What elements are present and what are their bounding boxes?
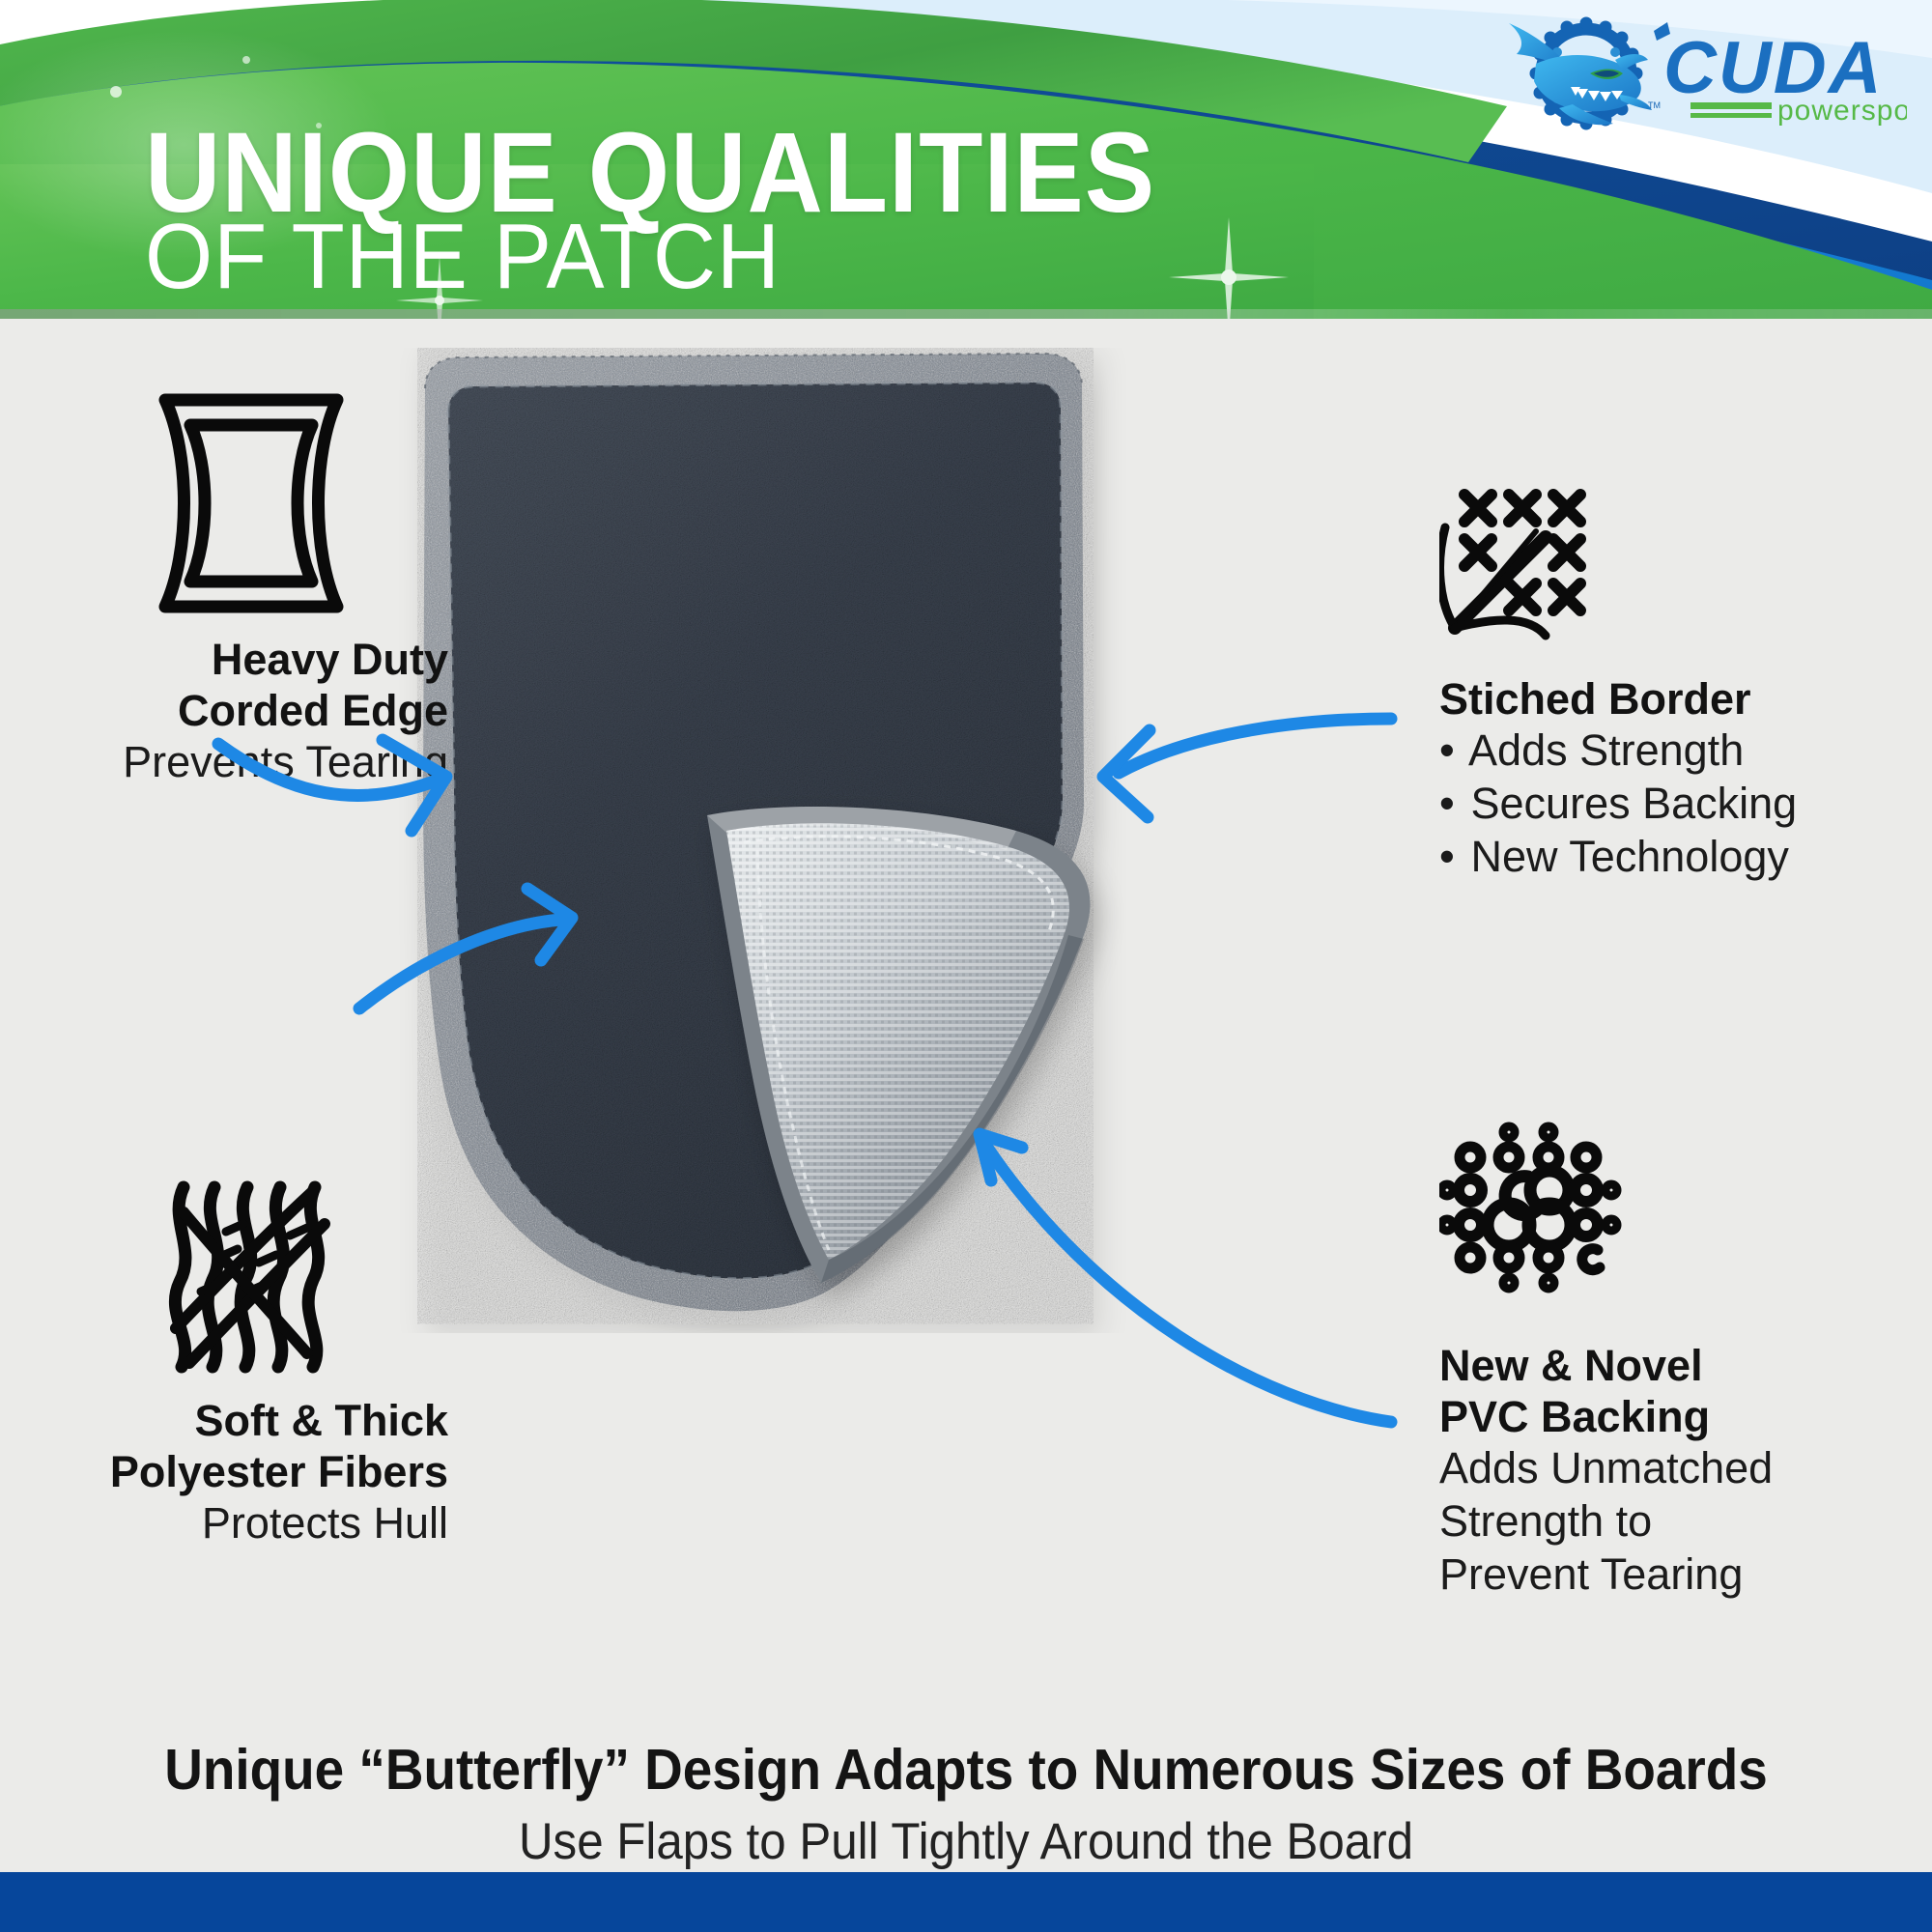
logo-tagline: powersports (1777, 95, 1907, 127)
butterfly-patch-photo (367, 348, 1459, 1333)
stitched-border-bullet-1: • Adds Strength (1439, 724, 1922, 778)
pvc-backing-sub-line-2: Strength to (1439, 1495, 1932, 1548)
feature-polyester-fibers-icon-wrap (39, 1174, 464, 1381)
feature-corded-edge-text: Heavy Duty Corded Edge Prevents Tearing (39, 634, 464, 789)
corded-edge-title-line-2: Corded Edge (39, 685, 448, 736)
stitched-border-bullet-1-label: Adds Strength (1468, 725, 1744, 775)
pvc-backing-title-line-1: New & Novel (1439, 1340, 1932, 1391)
trademark-mark: TM (1648, 100, 1661, 110)
stitched-border-bullet-3-label: New Technology (1471, 832, 1789, 881)
bottom-accent-bar (0, 1872, 1932, 1932)
bullet-dot-icon: • (1439, 831, 1459, 884)
feature-stitched-border: Stiched Border • Adds Strength • Secures… (1439, 483, 1922, 884)
pvc-backing-title-line-2: PVC Backing (1439, 1391, 1932, 1442)
feature-stitched-border-text: Stiched Border • Adds Strength • Secures… (1439, 673, 1922, 884)
stitched-border-bullet-2-label: Secures Backing (1471, 779, 1798, 828)
bullet-dot-icon: • (1439, 778, 1459, 831)
woven-fibers-icon (155, 1174, 348, 1381)
corded-edge-title-line-1: Heavy Duty (39, 634, 448, 685)
feature-pvc-backing: New & Novel PVC Backing Adds Unmatched S… (1439, 1121, 1932, 1602)
feature-polyester-fibers: Soft & Thick Polyester Fibers Protects H… (39, 1174, 464, 1550)
polyester-fibers-title-line-1: Soft & Thick (39, 1395, 448, 1446)
feature-corded-edge: Heavy Duty Corded Edge Prevents Tearing (39, 386, 464, 789)
caption-sub-line: Use Flaps to Pull Tightly Around the Boa… (68, 1813, 1864, 1872)
needle-and-thread-stitch-icon (1439, 483, 1623, 647)
patch-corded-edge-icon (140, 386, 362, 618)
bottom-caption: Unique “Butterfly” Design Adapts to Nume… (0, 1739, 1932, 1872)
stitched-border-bullet-list: • Adds Strength • Secures Backing • New … (1439, 724, 1922, 884)
patch-illustration (367, 348, 1459, 1333)
pvc-backing-sub-line-1: Adds Unmatched (1439, 1442, 1932, 1495)
polyester-fibers-title-line-2: Polyester Fibers (39, 1446, 448, 1497)
pvc-dot-texture-icon (1439, 1121, 1633, 1314)
bullet-dot-icon: • (1439, 724, 1459, 778)
brand-logo[interactable]: TM CUDA powersports (1501, 14, 1907, 137)
stitched-border-bullet-3: • New Technology (1439, 831, 1922, 884)
feature-pvc-backing-text: New & Novel PVC Backing Adds Unmatched S… (1439, 1340, 1932, 1602)
caption-main-line: Unique “Butterfly” Design Adapts to Nume… (68, 1739, 1864, 1802)
feature-corded-edge-icon-wrap (39, 386, 464, 618)
polyester-fibers-subtitle: Protects Hull (39, 1497, 448, 1550)
feature-polyester-fibers-text: Soft & Thick Polyester Fibers Protects H… (39, 1395, 464, 1550)
stitched-border-bullet-2: • Secures Backing (1439, 778, 1922, 831)
pvc-backing-sub-line-3: Prevent Tearing (1439, 1548, 1932, 1602)
corded-edge-subtitle: Prevents Tearing (39, 736, 448, 789)
cuda-barracuda-gear-logo-icon: TM CUDA powersports (1501, 14, 1907, 137)
stitched-border-title: Stiched Border (1439, 673, 1922, 724)
